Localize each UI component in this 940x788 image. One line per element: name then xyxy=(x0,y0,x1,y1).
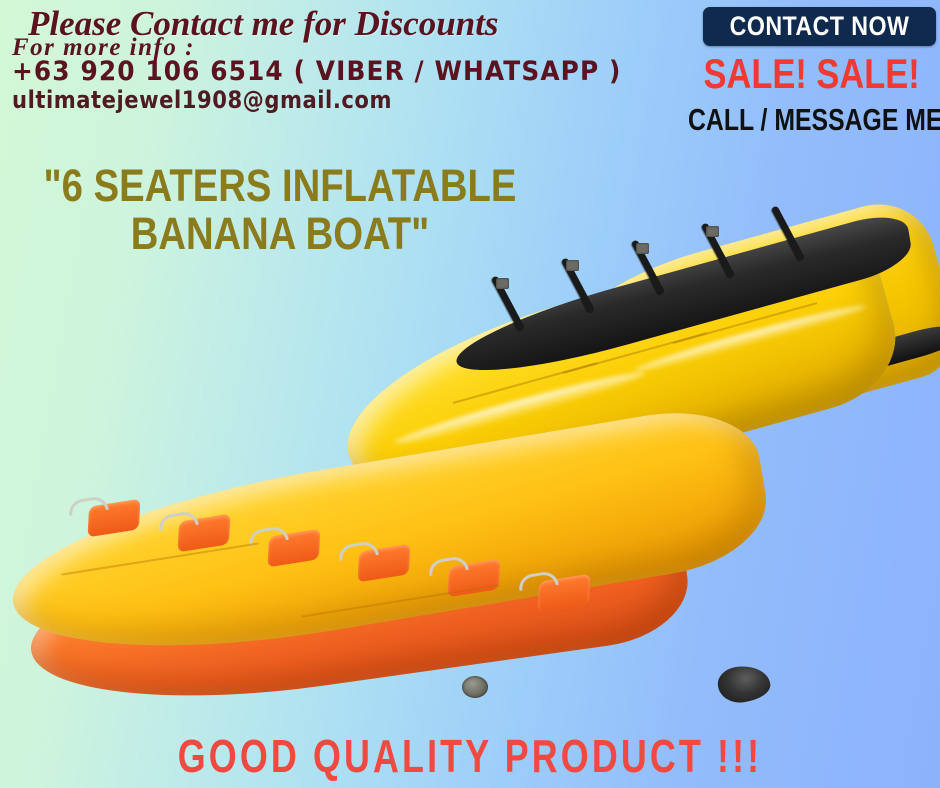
yellow-boat-buckle xyxy=(496,278,509,289)
product-title-line-2: BANANA BOAT" xyxy=(42,210,518,258)
phone-number[interactable]: +63 920 106 6514 ( VIBER / WHATSAPP ) xyxy=(12,58,621,85)
orange-banana-boat-image xyxy=(0,440,790,760)
call-message-text: CALL / MESSAGE ME :) xyxy=(688,104,912,135)
orange-boat-valve xyxy=(462,676,488,698)
contact-now-button-label: CONTACT NOW xyxy=(730,11,910,42)
orange-boat-nose-cone xyxy=(716,663,773,706)
sale-banner-text: SALE! SALE! xyxy=(704,53,909,95)
yellow-boat-buckle xyxy=(636,243,649,254)
contact-now-button[interactable]: CONTACT NOW xyxy=(703,7,936,46)
yellow-boat-buckle xyxy=(566,260,579,271)
product-title-line-1: "6 SEATERS INFLATABLE xyxy=(42,162,518,210)
yellow-boat-buckle xyxy=(706,226,719,237)
advertisement-canvas: Please Contact me for Discounts For more… xyxy=(0,0,940,788)
product-title: "6 SEATERS INFLATABLE BANANA BOAT" xyxy=(42,162,518,257)
email-address[interactable]: ultimatejewel1908@gmail.com xyxy=(12,88,392,112)
footer-tagline: GOOD QUALITY PRODUCT !!! xyxy=(103,733,836,779)
